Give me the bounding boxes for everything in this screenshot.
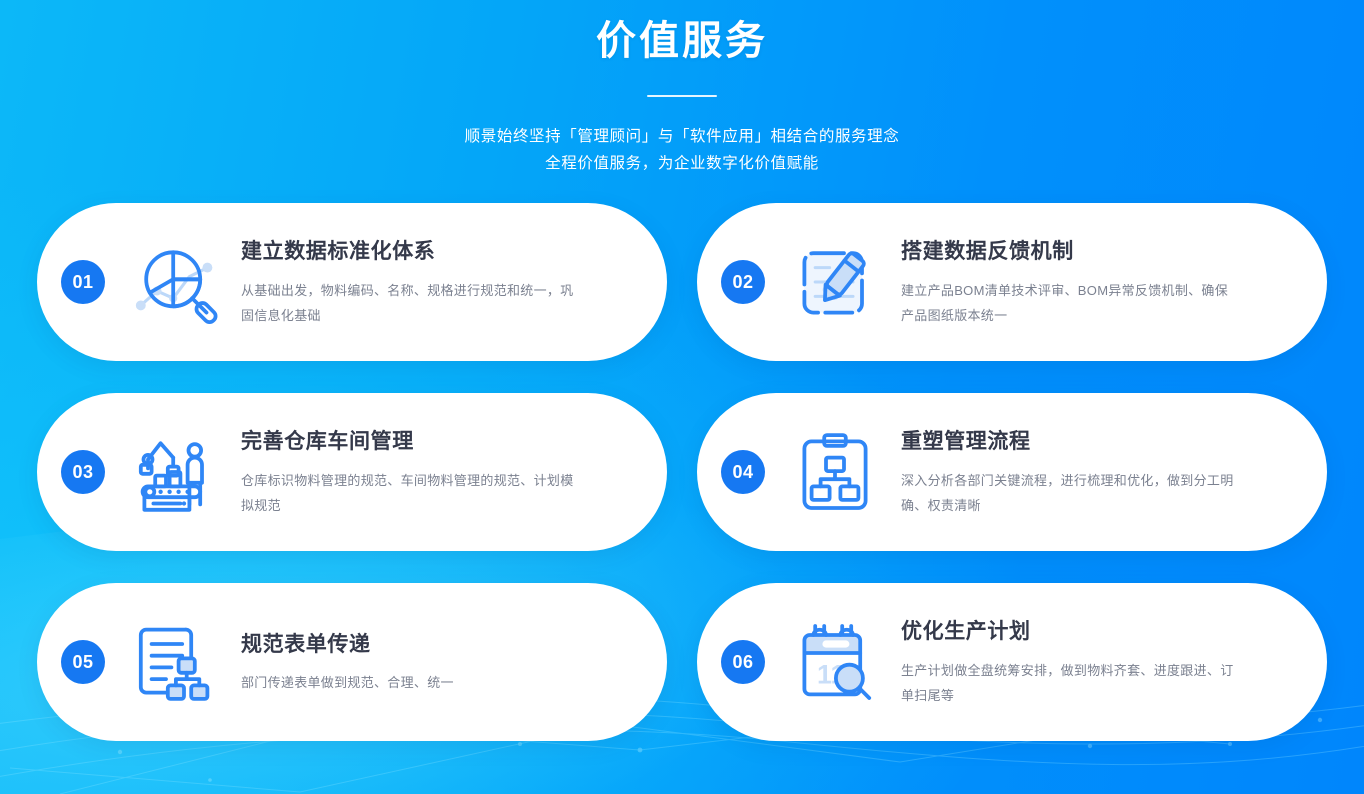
notepad-pencil-icon — [787, 234, 883, 330]
factory-worker-conveyor-icon — [127, 424, 223, 520]
service-card-03[interactable]: 03 — [37, 393, 667, 551]
card-description: 生产计划做全盘统筹安排，做到物料齐套、进度跟进、订单扫尾等 — [901, 658, 1236, 708]
card-title: 重塑管理流程 — [901, 428, 1293, 455]
card-description: 部门传递表单做到规范、合理、统一 — [241, 670, 576, 695]
card-title: 完善仓库车间管理 — [241, 428, 633, 455]
clipboard-orgchart-icon — [787, 424, 883, 520]
card-text-block: 规范表单传递 部门传递表单做到规范、合理、统一 — [241, 629, 633, 695]
card-text-block: 重塑管理流程 深入分析各部门关键流程，进行梳理和优化，做到分工明确、权责清晰 — [901, 426, 1293, 517]
service-card-02[interactable]: 02 搭建数据反馈机制 — [697, 203, 1327, 361]
card-number-badge: 02 — [721, 260, 765, 304]
card-text-block: 完善仓库车间管理 仓库标识物料管理的规范、车间物料管理的规范、计划模拟规范 — [241, 426, 633, 517]
card-text-block: 优化生产计划 生产计划做全盘统筹安排，做到物料齐套、进度跟进、订单扫尾等 — [901, 616, 1293, 707]
card-description: 建立产品BOM清单技术评审、BOM异常反馈机制、确保产品图纸版本统一 — [901, 278, 1236, 328]
page-header: 价值服务 顺景始终坚持「管理顾问」与「软件应用」相结合的服务理念 全程价值服务，… — [0, 0, 1364, 177]
card-description: 深入分析各部门关键流程，进行梳理和优化，做到分工明确、权责清晰 — [901, 468, 1236, 518]
pie-chart-magnifier-icon — [127, 234, 223, 330]
service-card-04[interactable]: 04 重塑管理流程 深入分析各部门关键流程，进行梳理和优化，做到分工明确、权责清… — [697, 393, 1327, 551]
card-description: 仓库标识物料管理的规范、车间物料管理的规范、计划模拟规范 — [241, 468, 576, 518]
card-number-badge: 05 — [61, 640, 105, 684]
card-number-badge: 04 — [721, 450, 765, 494]
service-card-01[interactable]: 01 建立数据标准化体系 从基础出发，物料编码、名称、规格进行规范和统一，巩固信… — [37, 203, 667, 361]
calendar-magnifier-icon: 11 — [787, 614, 883, 710]
card-number-badge: 06 — [721, 640, 765, 684]
subtitle-line-1: 顺景始终坚持「管理顾问」与「软件应用」相结合的服务理念 — [0, 123, 1364, 150]
document-flowchart-icon — [127, 614, 223, 710]
service-cards-grid: 01 建立数据标准化体系 从基础出发，物料编码、名称、规格进行规范和统一，巩固信… — [37, 177, 1327, 741]
card-title: 优化生产计划 — [901, 618, 1293, 645]
service-card-05[interactable]: 05 规范表单传递 部门传递表单 — [37, 583, 667, 741]
card-title: 建立数据标准化体系 — [241, 238, 633, 265]
page-title: 价值服务 — [0, 14, 1364, 68]
card-text-block: 搭建数据反馈机制 建立产品BOM清单技术评审、BOM异常反馈机制、确保产品图纸版… — [901, 236, 1293, 327]
card-title: 规范表单传递 — [241, 631, 633, 658]
card-title: 搭建数据反馈机制 — [901, 238, 1293, 265]
card-number-badge: 03 — [61, 450, 105, 494]
page-subtitle: 顺景始终坚持「管理顾问」与「软件应用」相结合的服务理念 全程价值服务，为企业数字… — [0, 123, 1364, 177]
card-number-badge: 01 — [61, 260, 105, 304]
card-description: 从基础出发，物料编码、名称、规格进行规范和统一，巩固信息化基础 — [241, 278, 576, 328]
title-divider — [647, 95, 717, 97]
service-card-06[interactable]: 06 11 优化生产计划 生产计划做全盘统筹安排，做 — [697, 583, 1327, 741]
subtitle-line-2: 全程价值服务，为企业数字化价值赋能 — [0, 150, 1364, 177]
card-text-block: 建立数据标准化体系 从基础出发，物料编码、名称、规格进行规范和统一，巩固信息化基… — [241, 236, 633, 327]
